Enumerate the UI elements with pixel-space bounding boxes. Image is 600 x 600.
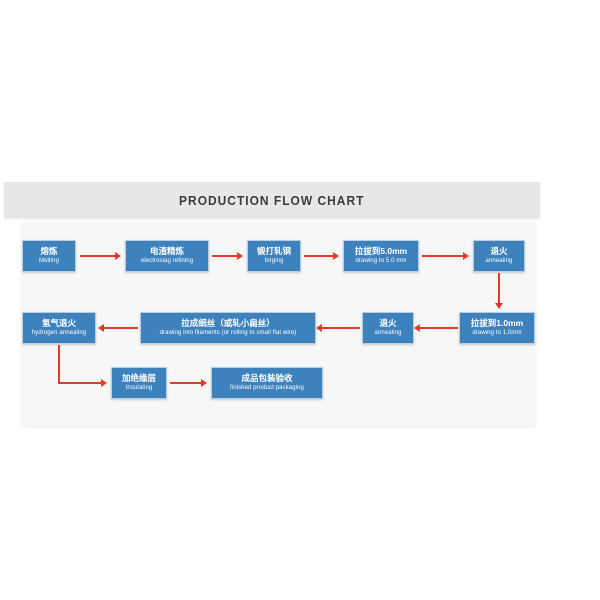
node-hydrogen-annealing-cn: 氢气退火: [42, 319, 76, 329]
node-insulating[interactable]: 加绝缘层 Insulating: [111, 367, 167, 399]
node-annealing-2-cn: 退火: [379, 319, 396, 329]
node-drawing-5mm-en: drawing to 5.0 mm: [355, 258, 406, 265]
node-annealing-1[interactable]: 退火 annealing: [473, 240, 525, 272]
node-electroslag-refining[interactable]: 电渣精炼 electroslag refining: [125, 240, 209, 272]
node-annealing-2-en: annealing: [375, 330, 402, 337]
node-melting[interactable]: 熔炼 Melting: [22, 240, 76, 272]
node-forging[interactable]: 锻打轧钢 forging: [247, 240, 301, 272]
node-forging-en: forging: [264, 258, 283, 265]
node-electroslag-cn: 电渣精炼: [150, 247, 184, 257]
node-drawing-filaments-en: drawing into filaments (or rolling to sm…: [160, 330, 297, 337]
page-title: PRODUCTION FLOW CHART: [179, 193, 364, 208]
node-insulating-cn: 加绝缘层: [122, 374, 156, 384]
node-annealing-1-cn: 退火: [490, 247, 507, 257]
node-melting-en: Melting: [39, 258, 59, 265]
node-hydrogen-annealing-en: hydrogen annealing: [32, 330, 87, 337]
node-packaging-cn: 成品包装验收: [241, 374, 292, 384]
node-drawing-filaments-cn: 拉成细丝（或轧小扁丝）: [181, 319, 275, 329]
node-drawing-5mm[interactable]: 拉拔到5.0mm drawing to 5.0 mm: [343, 240, 419, 272]
node-hydrogen-annealing[interactable]: 氢气退火 hydrogen annealing: [22, 312, 96, 344]
node-insulating-en: Insulating: [126, 385, 153, 392]
node-drawing-1mm-en: drawing to 1.0mm: [472, 330, 521, 337]
node-finished-product-packaging[interactable]: 成品包装验收 finished product packaging: [211, 367, 323, 399]
node-packaging-en: finished product packaging: [230, 385, 304, 392]
node-electroslag-en: electroslag refining: [141, 258, 193, 265]
production-flow-card: PRODUCTION FLOW CHART 熔炼 Melting 电渣精炼 el…: [4, 182, 540, 430]
node-melting-cn: 熔炼: [40, 247, 57, 257]
node-drawing-1mm-cn: 拉拔到1.0mm: [471, 319, 523, 329]
node-forging-cn: 锻打轧钢: [257, 247, 291, 257]
node-drawing-1mm[interactable]: 拉拔到1.0mm drawing to 1.0mm: [459, 312, 535, 344]
node-drawing-filaments[interactable]: 拉成细丝（或轧小扁丝） drawing into filaments (or r…: [140, 312, 316, 344]
node-annealing-2[interactable]: 退火 annealing: [362, 312, 414, 344]
node-annealing-1-en: annealing: [486, 258, 513, 265]
node-drawing-5mm-cn: 拉拔到5.0mm: [355, 247, 407, 257]
card-header: PRODUCTION FLOW CHART: [4, 182, 540, 218]
flow-diagram-canvas: 熔炼 Melting 电渣精炼 electroslag refining 锻打轧…: [22, 222, 536, 426]
